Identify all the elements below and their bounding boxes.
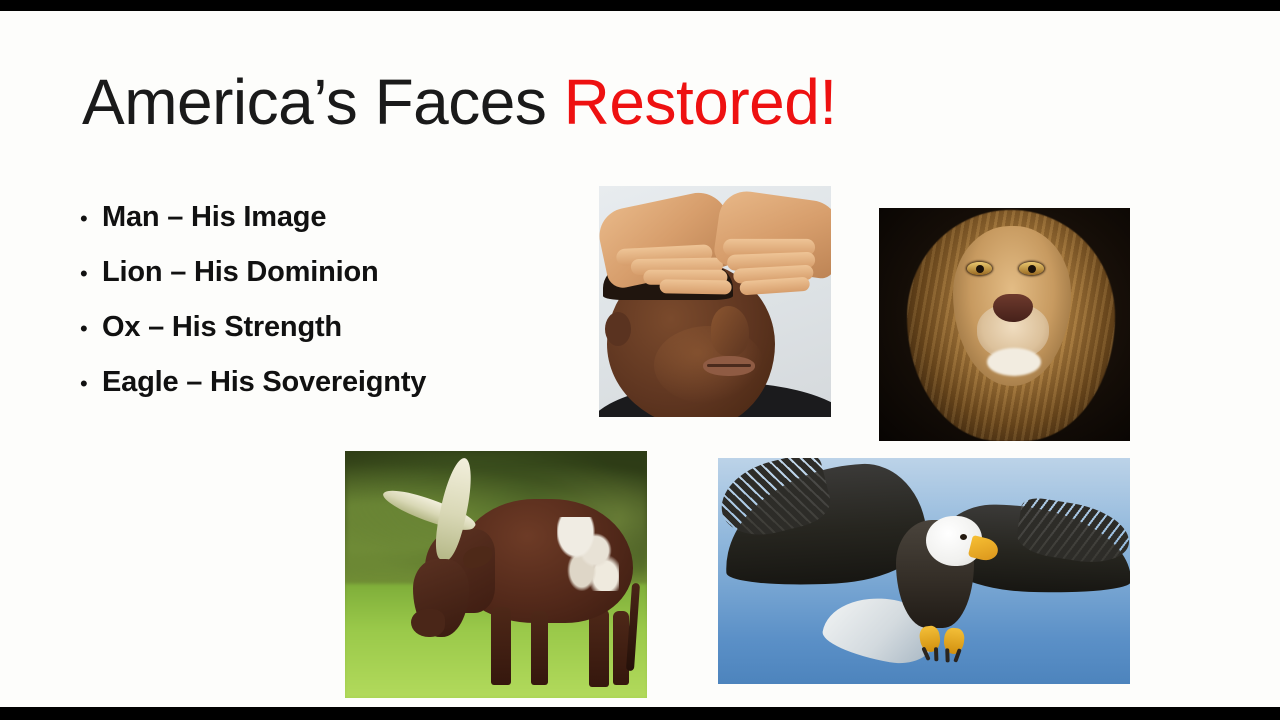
bullet-label-man: Man – His Image [102, 201, 326, 234]
eagle-photo [718, 458, 1130, 684]
lion-photo-content [879, 208, 1130, 441]
bullet-list: • Man – His Image • Lion – His Dominion … [80, 201, 580, 421]
lion-photo [879, 208, 1130, 441]
bullet-label-ox: Ox – His Strength [102, 311, 342, 344]
ox-leg-shape [589, 609, 609, 687]
lion-chin-shape [987, 348, 1041, 376]
man-photo-content [599, 186, 831, 417]
man-ear-shape [605, 312, 631, 346]
ox-photo [345, 451, 647, 698]
bullet-label-lion: Lion – His Dominion [102, 256, 379, 289]
bullet-marker-icon: • [80, 263, 102, 285]
title-lead-text: America’s Faces [82, 66, 564, 138]
lion-right-eye-shape [1019, 262, 1044, 275]
ox-muzzle-shape [411, 609, 445, 637]
list-item: • Man – His Image [80, 201, 580, 256]
ox-leg-shape [531, 611, 548, 685]
eagle-talon-shape [918, 625, 941, 654]
ox-white-patch-shape [557, 517, 619, 591]
bullet-label-eagle: Eagle – His Sovereignty [102, 366, 426, 399]
eagle-photo-content [718, 458, 1130, 684]
slide-canvas: America’s Faces Restored! • Man – His Im… [0, 11, 1280, 707]
man-nose-shape [711, 306, 749, 356]
bullet-marker-icon: • [80, 373, 102, 395]
man-right-hand-shape [712, 188, 831, 280]
bullet-marker-icon: • [80, 318, 102, 340]
page-title: America’s Faces Restored! [82, 63, 837, 141]
list-item: • Ox – His Strength [80, 311, 580, 366]
slide-frame: America’s Faces Restored! • Man – His Im… [0, 0, 1280, 720]
letterbox-top [0, 0, 1280, 11]
ox-leg-shape [491, 607, 511, 685]
eagle-talon-shape [943, 627, 966, 655]
man-photo [599, 186, 831, 417]
letterbox-bottom [0, 707, 1280, 720]
bullet-marker-icon: • [80, 208, 102, 230]
ox-photo-content [345, 451, 647, 698]
list-item: • Lion – His Dominion [80, 256, 580, 311]
list-item: • Eagle – His Sovereignty [80, 366, 580, 421]
lion-left-eye-shape [967, 262, 992, 275]
man-lips-shape [703, 356, 755, 376]
title-accent-text: Restored! [564, 66, 837, 138]
eagle-eye-shape [960, 534, 967, 540]
